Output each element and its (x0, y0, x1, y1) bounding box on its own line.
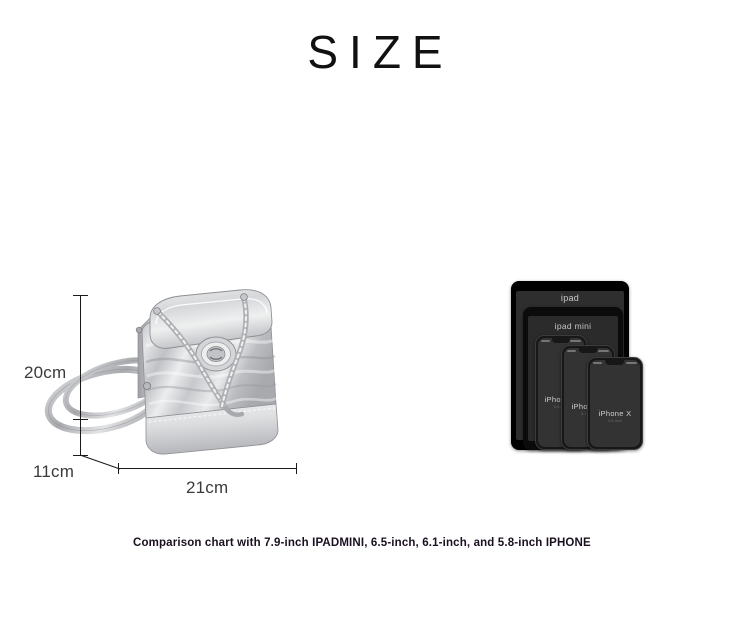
ipad-label: ipad (511, 294, 629, 303)
width-tick-right (296, 463, 297, 474)
width-measure-line (118, 468, 297, 469)
depth-leader-line (80, 455, 121, 470)
iphone-58-sublabel: 5.8-inch (588, 420, 642, 423)
size-chart-page: SIZE (0, 0, 750, 633)
width-tick-left (118, 463, 119, 474)
iphone-61-statusbar (562, 350, 614, 354)
device-comparison-stack: ipad ipad mini iPhone X 6.5-inch iPhone … (505, 275, 655, 460)
height-measure-line (80, 295, 81, 455)
iphone-58-statusbar (588, 362, 642, 366)
iphone-65-statusbar (536, 340, 586, 344)
comparison-caption: Comparison chart with 7.9-inch IPADMINI,… (133, 535, 628, 553)
depth-tick-mid (73, 419, 88, 420)
height-dimension-label: 20cm (24, 363, 66, 383)
bag-svg (30, 278, 310, 478)
product-bag-illustration (30, 278, 310, 478)
width-dimension-label: 21cm (186, 478, 228, 498)
iphone-58-screen (590, 360, 640, 447)
height-tick-top (73, 295, 88, 296)
depth-dimension-label: 11cm (33, 462, 74, 482)
ipad-mini-label: ipad mini (523, 322, 623, 331)
page-title: SIZE (0, 28, 750, 76)
iphone-58-label: iPhone X (588, 410, 642, 418)
device-iphone-58: iPhone X 5.8-inch (587, 357, 643, 450)
